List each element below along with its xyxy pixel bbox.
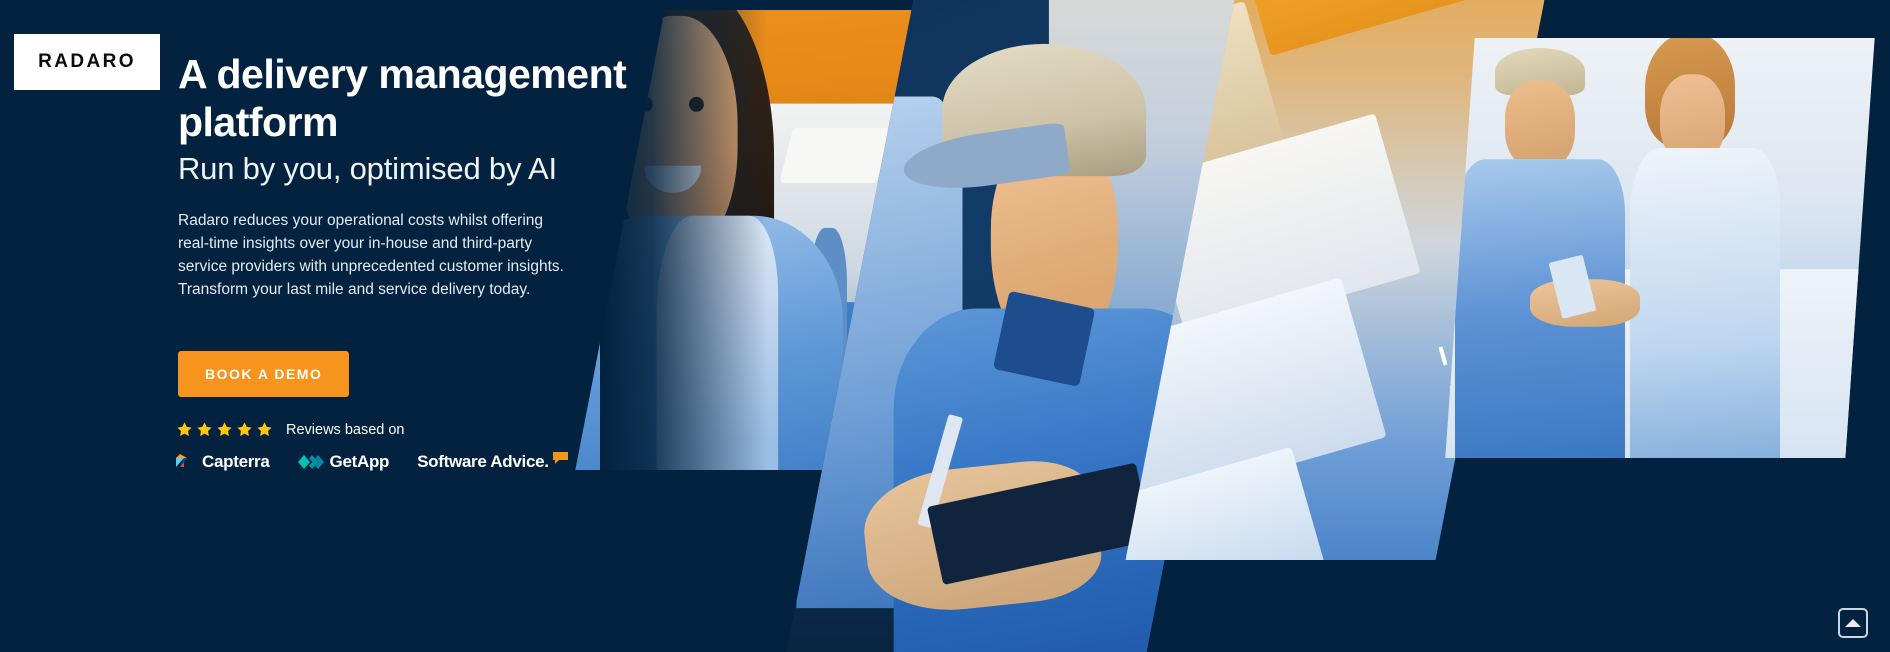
star-rating: [176, 421, 273, 438]
star-icon: [256, 421, 273, 438]
star-icon: [236, 421, 253, 438]
getapp-diamonds-icon: [298, 455, 324, 469]
software-advice-logo[interactable]: Software Advice.: [417, 452, 568, 472]
reviews-rating-row: Reviews based on: [176, 421, 405, 438]
page-title: A delivery management platform: [178, 50, 658, 147]
page-subtitle: Run by you, optimised by AI: [178, 150, 678, 187]
star-icon: [196, 421, 213, 438]
star-icon: [216, 421, 233, 438]
collage-panel-workers-phone: [1445, 38, 1874, 458]
star-icon: [176, 421, 193, 438]
scroll-to-top-button[interactable]: [1838, 608, 1868, 638]
hero-banner: RADARO A delivery management platform Ru…: [0, 0, 1890, 652]
book-a-demo-button[interactable]: BOOK A DEMO: [178, 351, 349, 397]
hero-content: RADARO A delivery management platform Ru…: [0, 0, 680, 652]
hero-description: Radaro reduces your operational costs wh…: [178, 210, 578, 302]
capterra-logo[interactable]: Capterra: [176, 452, 270, 472]
reviews-label: Reviews based on: [286, 422, 405, 438]
capterra-arrow-icon: [176, 453, 196, 471]
capterra-label: Capterra: [202, 452, 270, 472]
arrow-up-icon: [1845, 619, 1861, 627]
getapp-label: GetApp: [330, 452, 390, 472]
review-platform-logos: Capterra GetApp Software Advice.: [176, 452, 568, 472]
image-collage: [600, 0, 1890, 652]
software-advice-label: Software Advice.: [417, 452, 549, 472]
radaro-logo[interactable]: RADARO: [14, 34, 160, 90]
logo-text: RADARO: [38, 51, 136, 73]
software-advice-bubble-icon: [553, 452, 568, 465]
getapp-logo[interactable]: GetApp: [298, 452, 390, 472]
